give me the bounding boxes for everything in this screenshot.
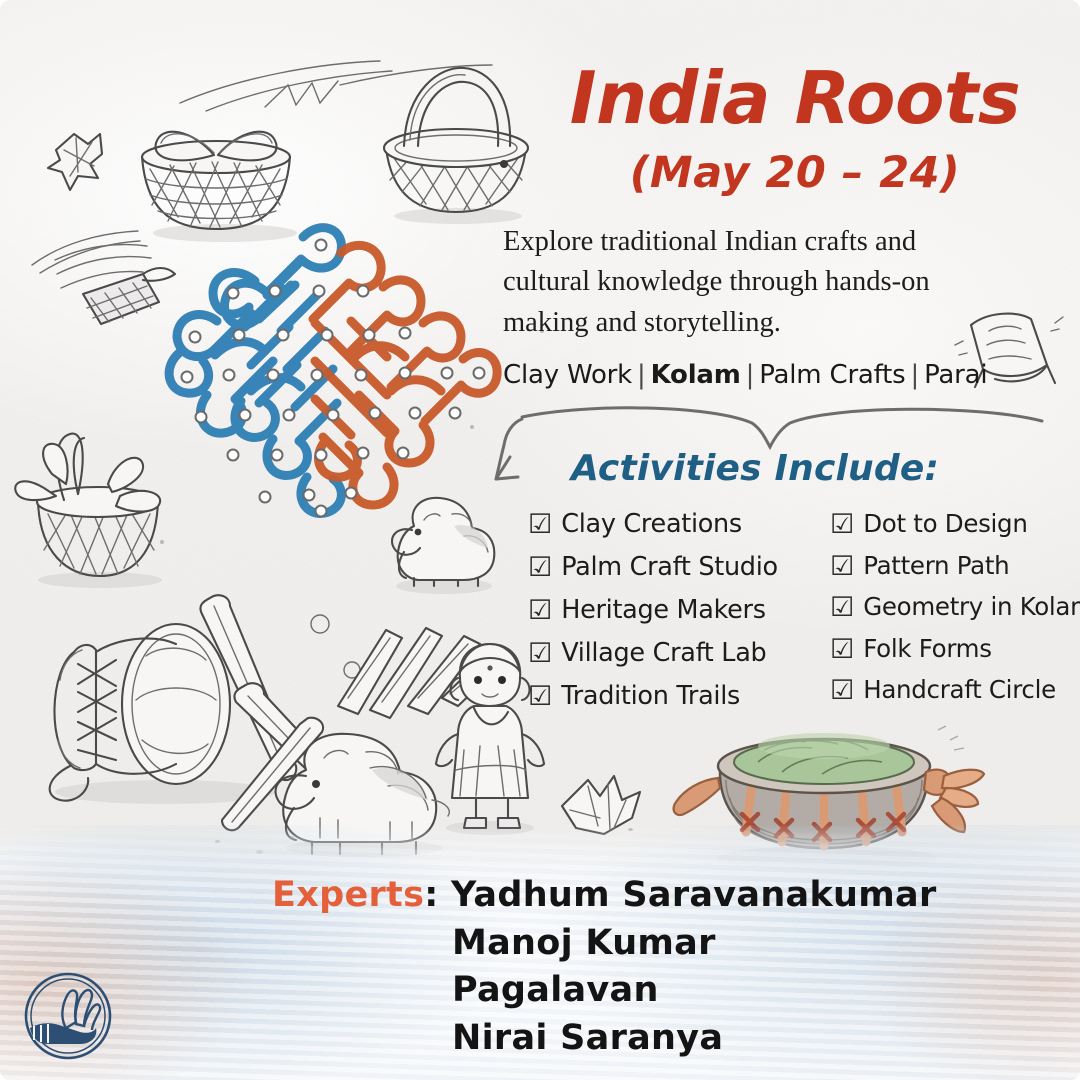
- tagline-separator-2: |: [741, 360, 760, 390]
- checkbox-checked-icon[interactable]: ☑: [528, 554, 552, 581]
- activity-item[interactable]: ☑ Village Craft Lab: [528, 635, 818, 672]
- activity-label: Village Craft Lab: [561, 635, 766, 672]
- checkbox-checked-icon[interactable]: ☑: [528, 511, 552, 538]
- checkbox-checked-icon[interactable]: ☑: [830, 677, 854, 704]
- palm-leaf-basket-sketch: [8, 430, 208, 590]
- expert-name: Nirai Saranya: [452, 1015, 723, 1063]
- description-text: Explore traditional Indian crafts and cu…: [503, 222, 1003, 343]
- tagline-item-palm-crafts: Palm Crafts: [759, 360, 905, 390]
- activity-label: Heritage Makers: [561, 592, 765, 629]
- page-title: India Roots: [525, 62, 1065, 135]
- shell-sketch: [40, 120, 120, 200]
- checkbox-checked-icon[interactable]: ☑: [830, 594, 854, 621]
- poster-canvas: India Roots (May 20 – 24) Explore tradit…: [0, 0, 1080, 1080]
- activity-item[interactable]: ☑ Palm Craft Studio: [528, 549, 818, 586]
- checkbox-checked-icon[interactable]: ☑: [528, 640, 552, 667]
- tagline-item-parai: Parai: [924, 360, 987, 390]
- round-basket-sketch: [370, 60, 540, 225]
- experts-line: Pagalavan: [0, 967, 1080, 1015]
- activity-label: Palm Craft Studio: [561, 549, 778, 586]
- tagline-separator-3: |: [906, 360, 925, 390]
- activities-checklists: ☑ Clay Creations ☑ Palm Craft Studio ☑ H…: [528, 506, 1080, 715]
- tagline-separator-1: |: [632, 360, 651, 390]
- checkbox-checked-icon[interactable]: ☑: [830, 511, 854, 538]
- activity-item[interactable]: ☑ Dot to Design: [830, 506, 1080, 542]
- activity-item[interactable]: ☑ Pattern Path: [830, 548, 1080, 584]
- activity-label: Clay Creations: [561, 506, 742, 543]
- activities-heading: Activities Include:: [520, 448, 990, 489]
- activity-label: Tradition Trails: [561, 678, 740, 715]
- cupped-hands-icon: [30, 990, 100, 1044]
- tagline-item-clay-work: Clay Work: [503, 360, 632, 390]
- activity-label: Pattern Path: [863, 548, 1009, 584]
- logo[interactable]: [22, 970, 114, 1062]
- activity-item[interactable]: ☑ Heritage Makers: [528, 592, 818, 629]
- craft-tagline: Clay Work|Kolam|Palm Crafts|Parai: [503, 360, 1023, 390]
- experts-label: Experts: [272, 872, 424, 920]
- experts-first-line: Experts: Yadhum Saravanakumar: [0, 872, 1080, 920]
- activity-label: Handcraft Circle: [863, 672, 1056, 708]
- activity-item[interactable]: ☑ Handcraft Circle: [830, 672, 1080, 708]
- expert-name: Yadhum Saravanakumar: [451, 872, 937, 920]
- expert-name: Pagalavan: [452, 967, 659, 1015]
- checkbox-checked-icon[interactable]: ☑: [528, 683, 552, 710]
- checkbox-checked-icon[interactable]: ☑: [830, 636, 854, 663]
- activity-item[interactable]: ☑ Folk Forms: [830, 631, 1080, 667]
- activity-item[interactable]: ☑ Tradition Trails: [528, 678, 818, 715]
- activity-item[interactable]: ☑ Geometry in Kolam: [830, 589, 1080, 625]
- experts-colon: :: [424, 872, 438, 920]
- activity-label: Geometry in Kolam: [863, 589, 1080, 625]
- tagline-item-kolam: Kolam: [651, 360, 741, 390]
- pencil-scribble-marks-left: [28, 225, 148, 275]
- experts-section: Experts: Yadhum Saravanakumar Manoj Kuma…: [0, 872, 1080, 1062]
- checkbox-checked-icon[interactable]: ☑: [830, 553, 854, 580]
- experts-line: Nirai Saranya: [0, 1015, 1080, 1063]
- checkbox-checked-icon[interactable]: ☑: [528, 597, 552, 624]
- experts-line: Manoj Kumar: [0, 920, 1080, 968]
- activities-right-column: ☑ Dot to Design ☑ Pattern Path ☑ Geometr…: [830, 506, 1080, 715]
- activities-left-column: ☑ Clay Creations ☑ Palm Craft Studio ☑ H…: [528, 506, 818, 715]
- date-range: (May 20 – 24): [525, 148, 1065, 198]
- activity-label: Dot to Design: [863, 506, 1027, 542]
- expert-name: Manoj Kumar: [452, 920, 716, 968]
- activity-label: Folk Forms: [863, 631, 991, 667]
- activity-item[interactable]: ☑ Clay Creations: [528, 506, 818, 543]
- elephant-figurine-sketch: [378, 486, 508, 596]
